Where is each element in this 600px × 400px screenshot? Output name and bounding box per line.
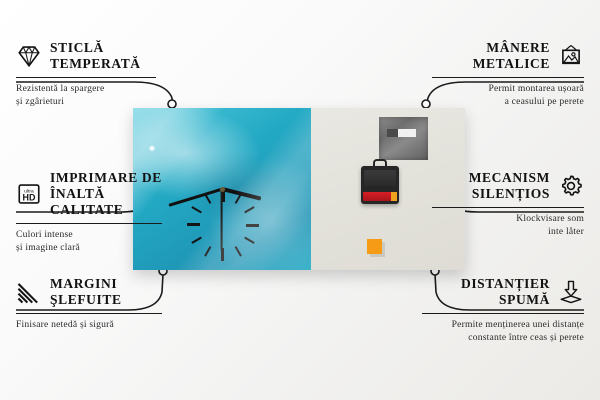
arrow-into-pad-icon bbox=[558, 279, 584, 305]
callout-title: IMPRIMARE DE ÎNALTĂ CALITATE bbox=[50, 170, 162, 218]
product-image bbox=[133, 108, 465, 270]
callout-tempered-glass: STICLĂ TEMPERATĂ Rezistentă la spargere … bbox=[16, 40, 156, 109]
callout-title: MÂNERE METALICE bbox=[473, 40, 550, 72]
callout-rule bbox=[432, 207, 584, 209]
clock-movement bbox=[361, 166, 399, 204]
hanger-slot bbox=[387, 129, 416, 137]
connector-dot-tempered-glass bbox=[168, 100, 176, 108]
callout-title: DISTANȚIER SPUMĂ bbox=[461, 276, 550, 308]
callout-rule bbox=[422, 313, 584, 315]
callout-subtitle: Rezistentă la spargere și zgârieturi bbox=[16, 83, 156, 109]
callout-polished-edges: MARGINI ŞLEFUITE Finisare netedă și sigu… bbox=[16, 276, 162, 332]
foam-spacer bbox=[367, 239, 382, 254]
hour-hand bbox=[222, 187, 262, 201]
callout-metal-handles: MÂNERE METALICE Permit montarea ușoară a… bbox=[432, 40, 584, 109]
callout-rule bbox=[16, 223, 162, 225]
movement-face bbox=[364, 170, 396, 186]
callout-rule bbox=[16, 77, 156, 79]
hanging-frame-icon bbox=[558, 43, 584, 69]
callout-subtitle: Culori intense și imagine clară bbox=[16, 229, 162, 255]
svg-text:HD: HD bbox=[23, 192, 36, 202]
connector-dot-metal-handles bbox=[422, 100, 430, 108]
movement-hook bbox=[373, 159, 387, 167]
metal-hanger bbox=[379, 117, 428, 160]
callout-rule bbox=[432, 77, 584, 79]
minute-hand bbox=[168, 188, 222, 207]
callout-subtitle: Permit montarea ușoară a ceasului pe per… bbox=[432, 83, 584, 109]
callout-subtitle: Klockvisare som inte låter bbox=[432, 213, 584, 239]
callout-title: MECANISM SILENȚIOS bbox=[469, 170, 550, 202]
battery bbox=[363, 192, 397, 201]
callout-rule bbox=[16, 313, 162, 315]
clock-hub bbox=[220, 187, 225, 192]
battery-terminal bbox=[391, 192, 397, 201]
diamond-icon bbox=[16, 43, 42, 69]
callout-subtitle: Finisare netedă și sigură bbox=[16, 319, 162, 332]
beveled-edge-icon bbox=[16, 279, 42, 305]
infographic-stage: STICLĂ TEMPERATĂ Rezistentă la spargere … bbox=[0, 0, 600, 400]
ultra-hd-icon: ultra HD bbox=[16, 181, 42, 207]
callout-high-quality-print: ultra HD IMPRIMARE DE ÎNALTĂ CALITATE Cu… bbox=[16, 170, 162, 255]
callout-title: MARGINI ŞLEFUITE bbox=[50, 276, 122, 308]
callout-silent-mechanism: MECANISM SILENȚIOS Klockvisare som inte … bbox=[432, 170, 584, 239]
callout-title: STICLĂ TEMPERATĂ bbox=[50, 40, 141, 72]
callout-foam-spacer: DISTANȚIER SPUMĂ Permite menținerea unei… bbox=[422, 276, 584, 345]
gear-icon bbox=[558, 173, 584, 199]
second-hand bbox=[221, 189, 223, 251]
callout-subtitle: Permite menținerea unei distanțe constan… bbox=[422, 319, 584, 345]
